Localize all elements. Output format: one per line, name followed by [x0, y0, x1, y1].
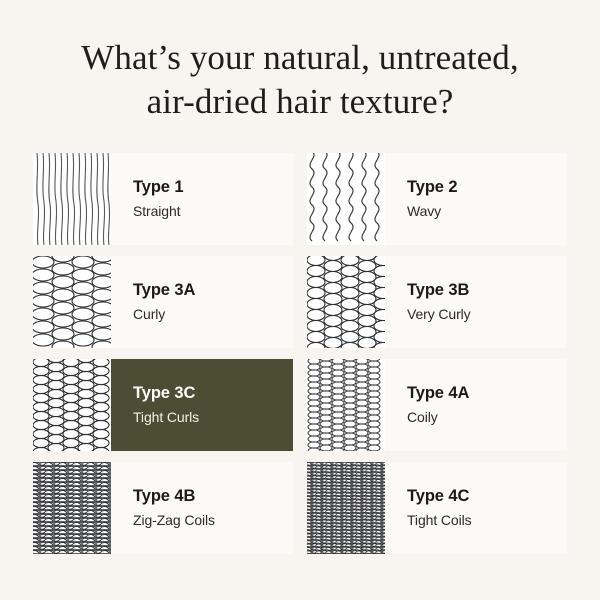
- option-text-type-1: Type 1 Straight: [111, 153, 293, 245]
- option-title: Type 4C: [407, 486, 567, 507]
- option-subtitle: Tight Coils: [407, 510, 567, 530]
- option-card-type-4c[interactable]: Type 4C Tight Coils: [307, 462, 567, 554]
- option-card-type-3c[interactable]: Type 3C Tight Curls: [33, 359, 293, 451]
- zigzag-swatch: [33, 462, 111, 554]
- option-subtitle: Zig-Zag Coils: [133, 510, 293, 530]
- option-title: Type 4A: [407, 383, 567, 404]
- loose-spiral-swatch: [33, 256, 111, 348]
- option-text-type-4b: Type 4B Zig-Zag Coils: [111, 462, 293, 554]
- option-text-type-3c: Type 3C Tight Curls: [111, 359, 293, 451]
- option-card-type-3b[interactable]: Type 3B Very Curly: [307, 256, 567, 348]
- option-title: Type 4B: [133, 486, 293, 507]
- option-subtitle: Tight Curls: [133, 407, 293, 427]
- hair-texture-quiz-page: What’s your natural, untreated, air-drie…: [0, 0, 600, 600]
- option-title: Type 2: [407, 177, 567, 198]
- tight-spiral-swatch: [307, 256, 385, 348]
- option-text-type-4c: Type 4C Tight Coils: [385, 462, 567, 554]
- hair-type-options-grid: Type 1 Straight Type 2: [33, 153, 567, 554]
- corkscrew-swatch: [33, 359, 111, 451]
- option-title: Type 3C: [133, 383, 293, 404]
- option-text-type-3a: Type 3A Curly: [111, 256, 293, 348]
- page-title-line-2: air-dried hair texture?: [20, 80, 580, 124]
- wavy-lines-swatch: [307, 153, 385, 245]
- option-title: Type 3A: [133, 280, 293, 301]
- option-card-type-1[interactable]: Type 1 Straight: [33, 153, 293, 245]
- coily-swatch: [307, 359, 385, 451]
- option-text-type-2: Type 2 Wavy: [385, 153, 567, 245]
- page-title-line-1: What’s your natural, untreated,: [20, 36, 580, 80]
- option-text-type-4a: Type 4A Coily: [385, 359, 567, 451]
- option-title: Type 1: [133, 177, 293, 198]
- option-subtitle: Coily: [407, 407, 567, 427]
- option-card-type-3a[interactable]: Type 3A Curly: [33, 256, 293, 348]
- option-card-type-2[interactable]: Type 2 Wavy: [307, 153, 567, 245]
- option-card-type-4b[interactable]: Type 4B Zig-Zag Coils: [33, 462, 293, 554]
- option-title: Type 3B: [407, 280, 567, 301]
- straight-lines-swatch: [33, 153, 111, 245]
- option-subtitle: Straight: [133, 201, 293, 221]
- option-card-type-4a[interactable]: Type 4A Coily: [307, 359, 567, 451]
- option-text-type-3b: Type 3B Very Curly: [385, 256, 567, 348]
- page-title: What’s your natural, untreated, air-drie…: [0, 36, 600, 124]
- dense-coil-swatch: [307, 462, 385, 554]
- option-subtitle: Wavy: [407, 201, 567, 221]
- option-subtitle: Very Curly: [407, 304, 567, 324]
- option-subtitle: Curly: [133, 304, 293, 324]
